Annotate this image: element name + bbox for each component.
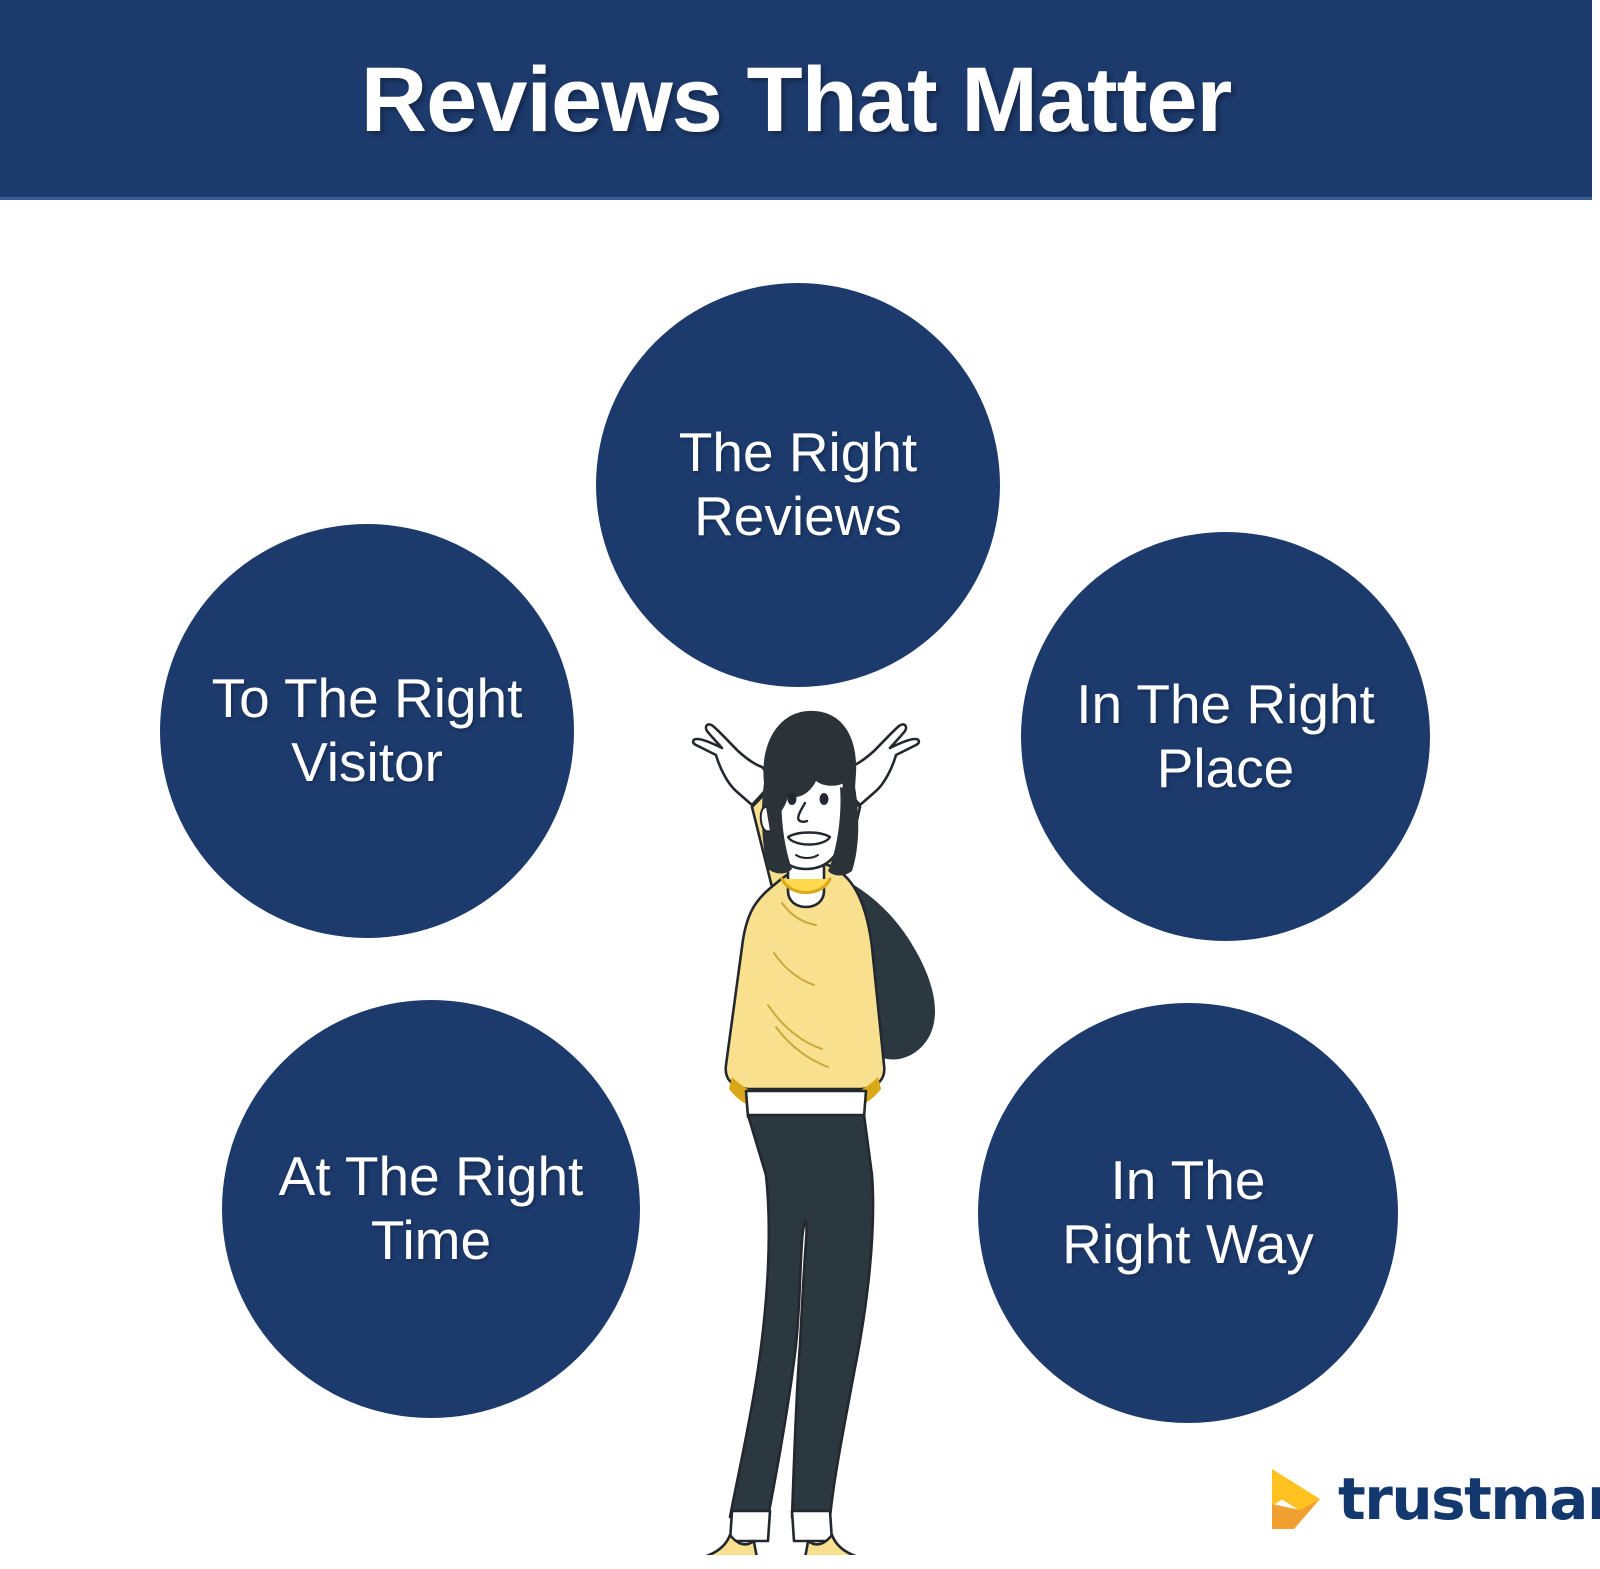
bubble-label: At The RightTime [251,1145,612,1273]
bubble-line-2: Time [371,1209,491,1271]
bubble-label: In TheRight Way [1034,1149,1342,1277]
trustmary-logo[interactable]: trustmary [1270,1466,1580,1532]
infographic-page: Reviews That Matter The RightReviews To … [0,0,1600,1569]
bubble-to-the-right-visitor[interactable]: To The RightVisitor [160,524,574,938]
bubble-line-1: In The Right [1076,673,1375,735]
trustmary-wordmark: trustmary [1338,1470,1600,1528]
bubble-line-2: Visitor [291,731,443,793]
bubble-in-the-right-place[interactable]: In The RightPlace [1021,532,1430,941]
bubble-at-the-right-time[interactable]: At The RightTime [222,1000,640,1418]
celebrating-woman-illustration [596,655,1006,1555]
bubble-line-2: Place [1157,737,1295,799]
bubble-the-right-reviews[interactable]: The RightReviews [596,283,1000,687]
bubble-line-2: Right Way [1062,1213,1314,1275]
bubble-line-1: The Right [679,421,917,483]
page-title: Reviews That Matter [0,0,1592,200]
bubble-line-2: Reviews [694,485,902,547]
bubble-label: To The RightVisitor [184,667,551,795]
bubble-in-the-right-way[interactable]: In TheRight Way [978,1003,1398,1423]
bubble-label: In The RightPlace [1048,673,1403,801]
bubble-label: The RightReviews [651,421,945,549]
header-banner: Reviews That Matter [0,0,1592,200]
bubble-line-1: At The Right [279,1145,584,1207]
bubble-line-1: To The Right [212,667,523,729]
trustmary-chevron-icon [1270,1468,1322,1530]
bubble-line-1: In The [1111,1149,1266,1211]
